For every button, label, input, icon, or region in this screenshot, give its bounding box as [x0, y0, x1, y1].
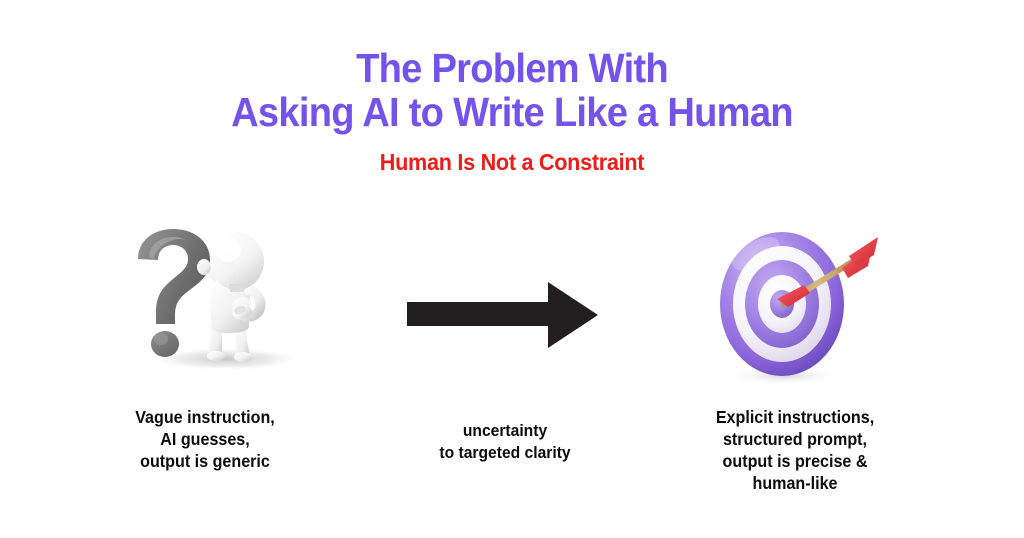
- caption-middle: uncertainty to targeted clarity: [380, 420, 630, 464]
- target-with-arrow-icon: [692, 224, 892, 386]
- caption-right: Explicit instructions, structured prompt…: [650, 406, 940, 494]
- right-arrow-icon: [400, 278, 605, 352]
- caption-middle-line-1: uncertainty: [390, 420, 620, 442]
- caption-left-line-3: output is generic: [72, 450, 339, 472]
- slide-canvas: The Problem With Asking AI to Write Like…: [0, 0, 1024, 538]
- caption-middle-line-2: to targeted clarity: [390, 442, 620, 464]
- caption-left: Vague instruction, AI guesses, output is…: [60, 406, 350, 472]
- title-line-1: The Problem With: [36, 46, 988, 90]
- caption-right-line-3: output is precise &: [662, 450, 929, 472]
- caption-right-line-2: structured prompt,: [662, 428, 929, 450]
- caption-left-line-2: AI guesses,: [72, 428, 339, 450]
- title-line-2: Asking AI to Write Like a Human: [36, 90, 988, 134]
- page-subtitle: Human Is Not a Constraint: [31, 148, 994, 176]
- arrow-shape: [407, 282, 598, 348]
- page-title: The Problem With Asking AI to Write Like…: [0, 46, 1024, 134]
- question-mark-glyph: [138, 229, 210, 357]
- question-mark-person-icon: [118, 226, 318, 376]
- caption-right-line-1: Explicit instructions,: [662, 406, 929, 428]
- caption-left-line-1: Vague instruction,: [72, 406, 339, 428]
- subtitle-text: Human Is Not a Constraint: [380, 149, 644, 175]
- caption-right-line-4: human-like: [662, 472, 929, 494]
